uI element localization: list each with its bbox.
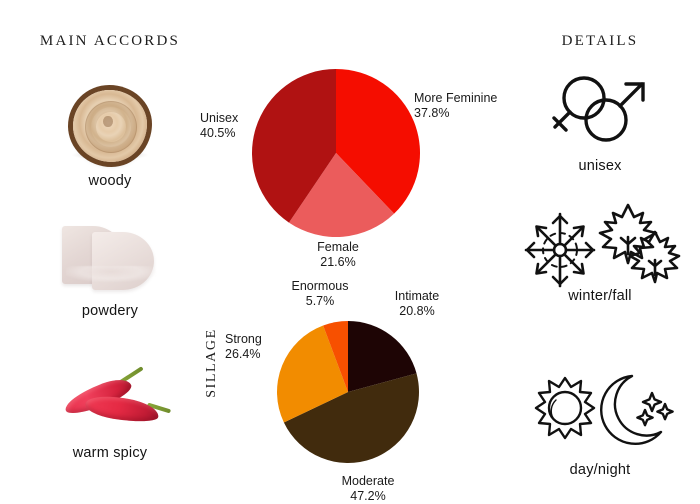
sillage-pie-slices (277, 321, 419, 463)
detail-label: unisex (500, 158, 700, 174)
slice-name: Female (317, 240, 359, 254)
slice-value: 47.2% (327, 489, 409, 504)
slice-value: 21.6% (300, 255, 376, 270)
slice-name: Unisex (200, 111, 238, 125)
star-2 (657, 404, 672, 419)
slice-name: Strong (225, 332, 262, 346)
powder-dust (66, 266, 156, 282)
moon-icon (601, 376, 672, 444)
accord-label: warm spicy (10, 445, 210, 461)
main-accords-heading: MAIN ACCORDS (0, 33, 220, 50)
accord-item-woody: woody (10, 88, 210, 189)
infographic-canvas: MAIN ACCORDS DETAILS woody powdery (0, 0, 700, 500)
pie-label-more-feminine: More Feminine 37.8% (414, 91, 497, 121)
wood-cross-section-image (10, 88, 210, 166)
sillage-axis-title: SILLAGE (204, 323, 220, 403)
tree-ring-shape (73, 90, 147, 162)
detail-label: day/night (500, 462, 700, 478)
pie-label-intimate: Intimate 20.8% (381, 289, 453, 319)
chili-peppers-image (10, 360, 210, 438)
powder-wedges (62, 222, 158, 288)
venus-mars-combined-icon (500, 68, 700, 152)
snowflake-icon (526, 214, 594, 286)
detail-item-time-of-day: day/night (500, 372, 700, 478)
pie-label-strong: Strong 26.4% (225, 332, 289, 362)
gender-pie-chart (236, 53, 436, 253)
sillage-pie-svg (268, 312, 428, 472)
sun-moon-icon (500, 372, 700, 456)
accord-item-powdery: powdery (10, 218, 210, 319)
maple-leaf-upper (600, 205, 656, 263)
snowflake-maple-leaves-icon (500, 198, 700, 282)
slice-name: Intimate (395, 289, 439, 303)
detail-label: winter/fall (500, 288, 700, 304)
gender-pie-slices (252, 69, 420, 237)
mars-arrow-stem (620, 84, 642, 106)
slice-name: Moderate (342, 474, 395, 488)
maple-leaf-lower (630, 232, 679, 282)
detail-item-season: winter/fall (500, 198, 700, 304)
chili-pepper-lower (84, 392, 161, 425)
star-1 (643, 393, 661, 411)
detail-item-unisex: unisex (500, 68, 700, 174)
star-3 (637, 410, 652, 425)
gender-pie-svg (236, 53, 436, 253)
slice-name: More Feminine (414, 91, 497, 105)
sillage-pie-chart (268, 312, 428, 472)
slice-value: 40.5% (200, 126, 260, 141)
slice-value: 37.8% (414, 106, 497, 121)
slice-value: 20.8% (381, 304, 453, 319)
pie-label-enormous: Enormous 5.7% (282, 279, 358, 309)
slice-value: 26.4% (225, 347, 289, 362)
accord-label: woody (10, 173, 210, 189)
details-heading: DETAILS (500, 33, 700, 50)
pie-label-unisex: Unisex 40.5% (200, 111, 260, 141)
sun-icon (536, 378, 594, 438)
slice-value: 5.7% (282, 294, 358, 309)
accord-item-warm-spicy: warm spicy (10, 360, 210, 461)
pie-label-female: Female 21.6% (300, 240, 376, 270)
powder-compact-image (10, 218, 210, 296)
chili-group (55, 360, 165, 436)
accord-label: powdery (10, 303, 210, 319)
slice-name: Enormous (292, 279, 349, 293)
